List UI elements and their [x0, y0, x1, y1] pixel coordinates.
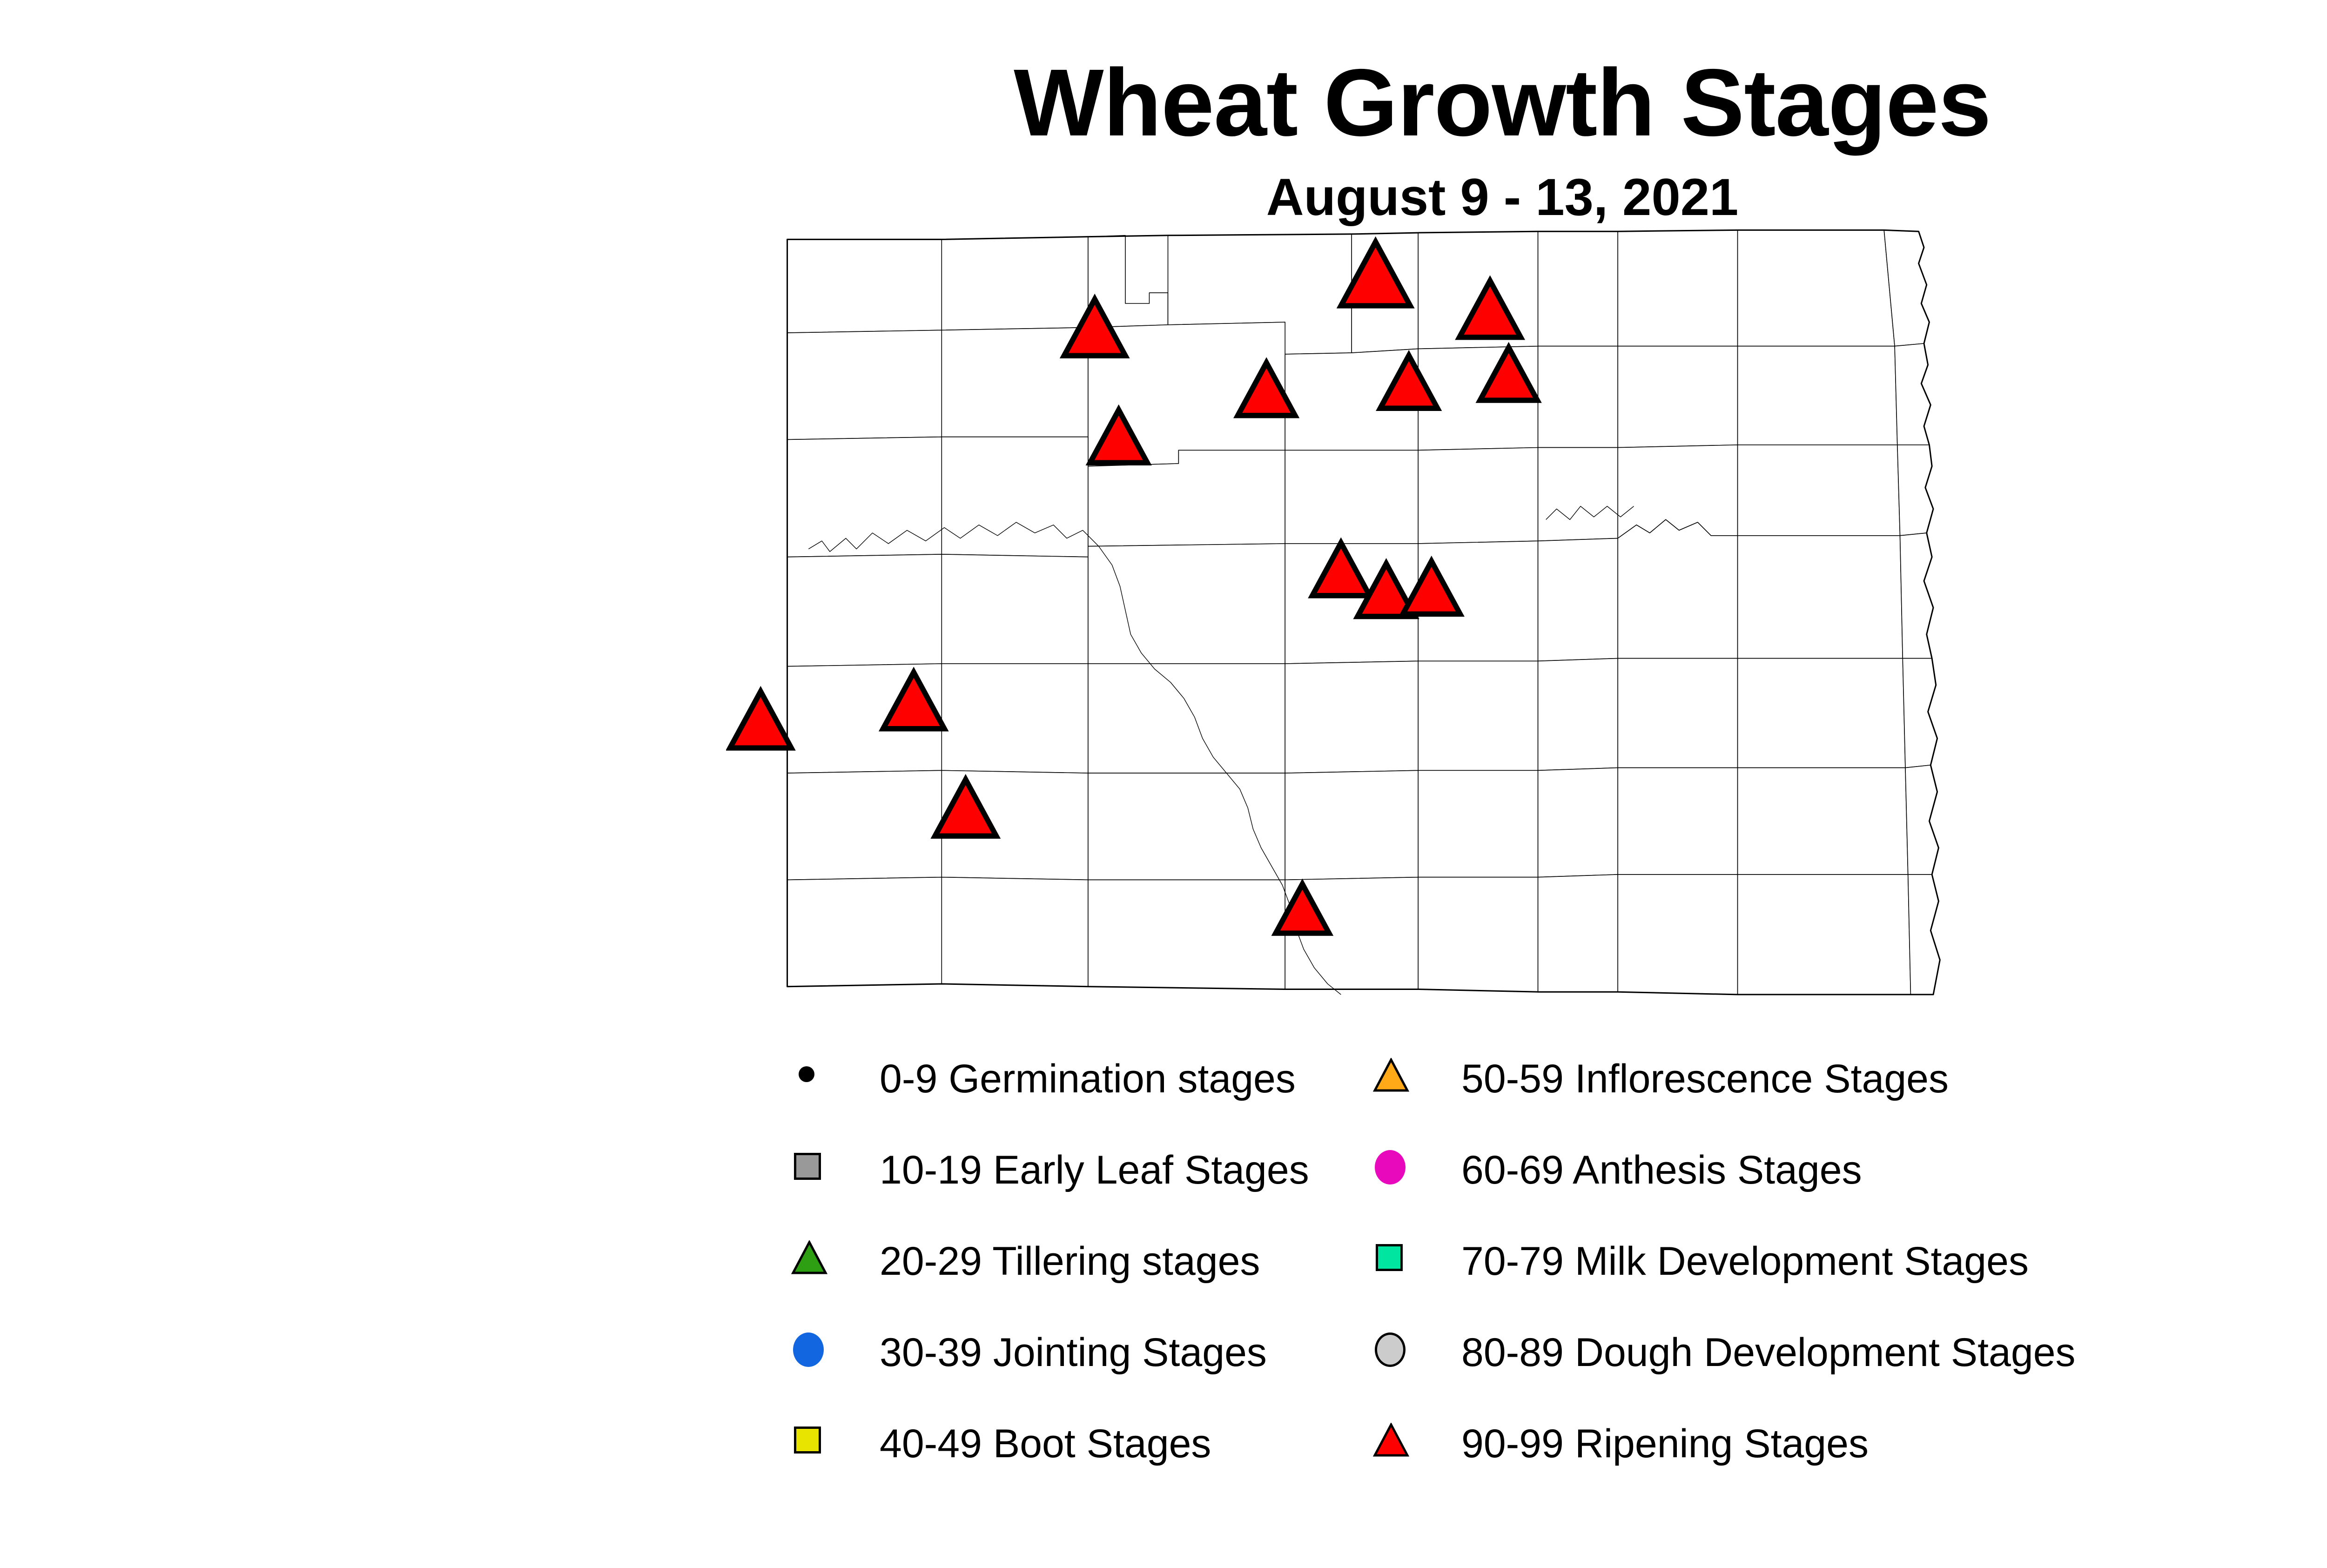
legend-item[interactable]: 30-39 Jointing Stages	[791, 1328, 1326, 1419]
legend-item-label: 20-29 Tillering stages	[880, 1241, 1260, 1281]
legend-column-right: 50-59 Inflorescence Stages60-69 Anthesis…	[1373, 1054, 2280, 1510]
page-subtitle: August 9 - 13, 2021	[0, 171, 2327, 223]
page-title: Wheat Growth Stages	[0, 55, 2327, 150]
legend-item[interactable]: 80-89 Dough Development Stages	[1373, 1328, 2280, 1419]
legend-item[interactable]: 70-79 Milk Development Stages	[1373, 1237, 2280, 1328]
circle-marker-icon	[1373, 1328, 1457, 1374]
triangle-marker-icon	[1373, 1419, 1457, 1466]
triangle-glyph	[1373, 1058, 1409, 1093]
legend-item-label: 40-49 Boot Stages	[880, 1424, 1211, 1464]
circle-marker-icon	[791, 1328, 875, 1374]
circle-glyph	[793, 1332, 824, 1367]
square-glyph	[1376, 1244, 1403, 1271]
legend-item[interactable]: 60-69 Anthesis Stages	[1373, 1145, 2280, 1237]
circle-marker-icon	[1373, 1145, 1457, 1192]
north-dakota-map	[726, 223, 2057, 1024]
legend-item-label: 10-19 Early Leaf Stages	[880, 1150, 1309, 1190]
circle-glyph	[1375, 1332, 1406, 1367]
triangle-glyph	[791, 1240, 827, 1276]
circle-glyph	[1375, 1150, 1406, 1184]
legend-item-label: 30-39 Jointing Stages	[880, 1332, 1267, 1373]
legend-item[interactable]: 40-49 Boot Stages	[791, 1419, 1326, 1510]
triangle-marker-icon	[1373, 1054, 1457, 1101]
square-marker-icon	[1373, 1237, 1457, 1283]
square-marker-icon	[791, 1419, 875, 1466]
legend-item[interactable]: 20-29 Tillering stages	[791, 1237, 1326, 1328]
legend-item-label: 0-9 Germination stages	[880, 1059, 1296, 1099]
legend-item[interactable]: 10-19 Early Leaf Stages	[791, 1145, 1326, 1237]
triangle-marker-icon	[791, 1237, 875, 1283]
legend-item[interactable]: 0-9 Germination stages	[791, 1054, 1326, 1145]
legend: 0-9 Germination stages10-19 Early Leaf S…	[791, 1054, 2280, 1501]
square-marker-icon	[791, 1145, 875, 1192]
circle-marker-icon	[791, 1054, 875, 1101]
square-glyph	[794, 1153, 821, 1180]
legend-item-label: 90-99 Ripening Stages	[1461, 1424, 1869, 1464]
legend-item-label: 60-69 Anthesis Stages	[1461, 1150, 1862, 1190]
legend-item-label: 70-79 Milk Development Stages	[1461, 1241, 2029, 1281]
triangle-glyph	[1373, 1423, 1409, 1458]
dot-glyph	[799, 1066, 814, 1082]
square-glyph	[794, 1427, 821, 1454]
legend-item[interactable]: 50-59 Inflorescence Stages	[1373, 1054, 2280, 1145]
legend-item[interactable]: 90-99 Ripening Stages	[1373, 1419, 2280, 1510]
legend-item-label: 80-89 Dough Development Stages	[1461, 1332, 2076, 1373]
map-marker-triangle	[730, 692, 792, 748]
legend-item-label: 50-59 Inflorescence Stages	[1461, 1059, 1949, 1099]
legend-column-left: 0-9 Germination stages10-19 Early Leaf S…	[791, 1054, 1326, 1510]
map-svg	[726, 223, 2057, 1024]
